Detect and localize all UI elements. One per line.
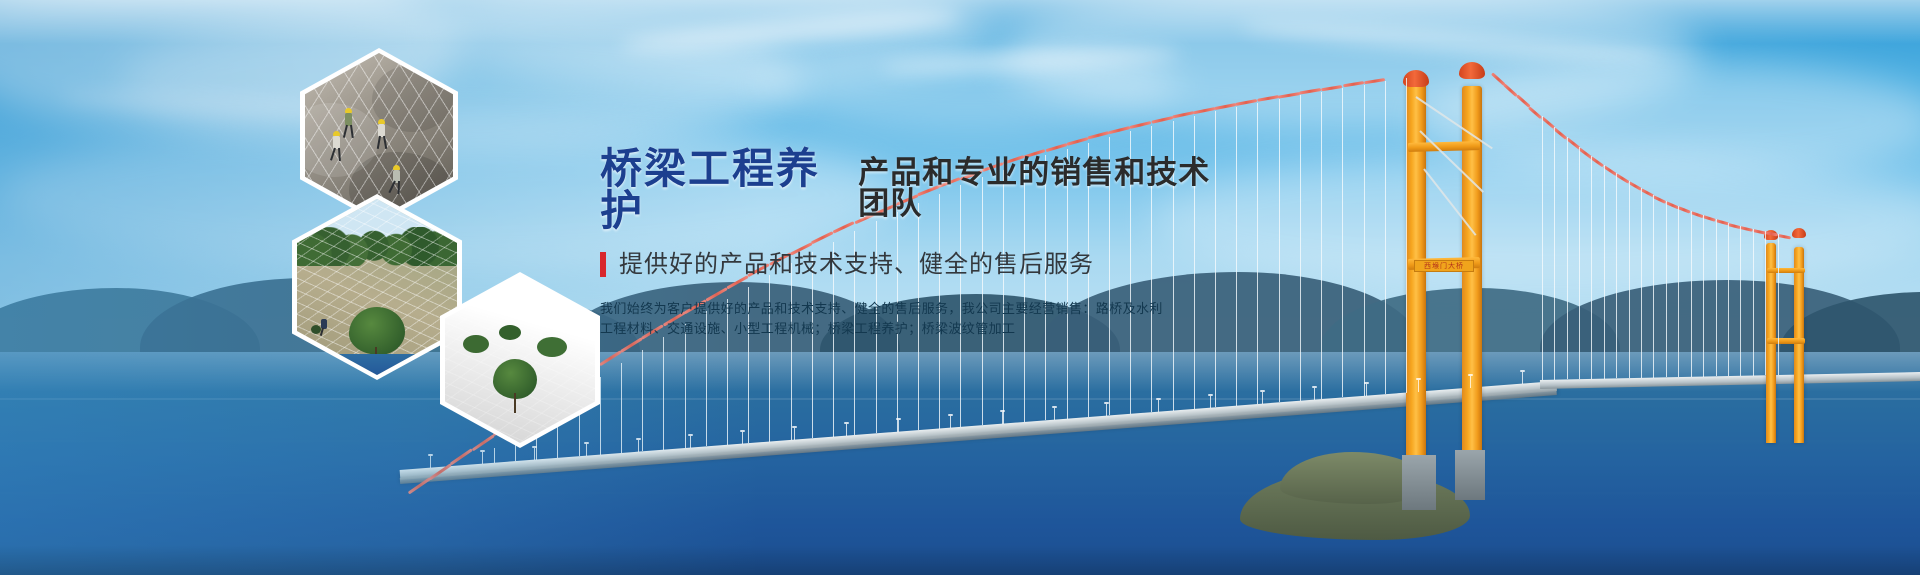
bridge-hanger <box>1716 219 1717 376</box>
main-cable-segment <box>1257 95 1279 102</box>
headline-secondary: 产品和专业的销售和技术团队 <box>858 157 1240 219</box>
main-cable-segment <box>1300 88 1322 94</box>
bridge-lamp <box>690 436 691 448</box>
tower-cap-right <box>1792 228 1806 238</box>
tower-cross-beam <box>1767 338 1805 344</box>
back-stay-cable-segment <box>1553 127 1567 139</box>
description-line-1: 我们始终为客户提供好的产品和技术支持、健全的售后服务，我公司主要经营销售：路桥及… <box>600 299 1140 319</box>
hero-text-block: 桥梁工程养护 产品和专业的销售和技术团队 提供好的产品和技术支持、健全的售后服务… <box>600 148 1240 339</box>
bridge-hanger <box>1257 103 1258 404</box>
bridge-hanger <box>1678 206 1679 377</box>
photo-green-slope <box>297 199 457 375</box>
bridge-lamp <box>1418 380 1419 392</box>
bridge-pier <box>1402 455 1436 510</box>
bridge-lamp <box>1366 384 1367 396</box>
back-stay-cable-segment <box>1566 137 1580 149</box>
bridge-lamp <box>1210 396 1211 408</box>
back-stay-cable-segment <box>1653 195 1667 204</box>
tower-cross-beam <box>1408 141 1480 152</box>
hex-photo-2[interactable] <box>292 194 462 380</box>
bridge-lamp <box>950 416 951 428</box>
bridge-hanger <box>685 324 686 448</box>
bridge-lamp <box>1314 388 1315 400</box>
bridge-hanger <box>1279 99 1280 402</box>
bridge-hanger <box>621 363 622 453</box>
water-strip <box>297 354 457 375</box>
bridge-hanger <box>494 448 495 463</box>
main-cable-segment <box>1363 78 1385 84</box>
bridge-hanger <box>1616 173 1617 378</box>
tower-cross-beam <box>1767 268 1805 273</box>
main-cable-segment <box>450 448 473 465</box>
back-stay-cable-segment <box>1590 156 1604 167</box>
accent-bar <box>600 252 606 277</box>
main-cable-segment <box>1321 85 1343 91</box>
back-stay-cable-segment <box>1528 106 1542 119</box>
bridge-deck-right <box>1540 372 1920 389</box>
tree <box>493 359 537 415</box>
headline-row: 桥梁工程养护 产品和专业的销售和技术团队 <box>600 148 1240 232</box>
bridge-hanger <box>1554 127 1555 380</box>
main-cable-segment <box>1087 131 1109 139</box>
bridge-lamp <box>1106 404 1107 416</box>
bridge-hanger <box>1300 95 1301 400</box>
main-cable-segment <box>1066 137 1088 146</box>
bridge-lamp <box>534 448 535 460</box>
bridge-tower-far <box>1760 228 1820 443</box>
bridge-lamp <box>1262 392 1263 404</box>
bridge-hanger <box>1406 78 1407 393</box>
bridge-hanger <box>1666 201 1667 378</box>
tower-leg-left <box>1406 76 1426 490</box>
main-cable-segment <box>1215 103 1237 110</box>
bridge-hanger <box>642 350 643 451</box>
back-stay-cable-segment <box>1703 215 1716 222</box>
back-stay-cable-segment <box>1728 223 1741 229</box>
bridge-lamp <box>898 420 899 432</box>
hex-photo-3[interactable] <box>440 272 600 448</box>
bridge-hanger <box>1542 116 1543 380</box>
back-stay-cable-segment <box>1615 173 1629 183</box>
back-stay-cable-segment <box>1690 211 1703 218</box>
main-cable-segment <box>1236 99 1258 106</box>
subheadline-row: 提供好的产品和技术支持、健全的售后服务 <box>600 252 1240 277</box>
back-stay-cable-segment <box>1516 95 1530 108</box>
tower-plaque-text: 西堠门大桥 <box>1424 261 1464 271</box>
main-cable-segment <box>1151 116 1173 124</box>
bridge-hanger <box>1778 234 1779 375</box>
tower-leg-right <box>1794 247 1804 443</box>
bridge-lamp <box>1470 376 1471 388</box>
tower-plaque: 西堠门大桥 <box>1414 260 1474 272</box>
bridge-hanger <box>1321 92 1322 399</box>
tower-cap-right <box>1459 62 1485 79</box>
photo-ochre-slope <box>445 277 595 443</box>
bridge-hanger <box>1629 181 1630 378</box>
bridge-pier <box>1455 450 1485 500</box>
bridge-lamp <box>1158 400 1159 412</box>
bridge-lamp <box>638 440 639 452</box>
main-cable-segment <box>1130 121 1152 129</box>
bridge-lamp <box>794 428 795 440</box>
main-cable-segment <box>1278 92 1300 99</box>
bridge-lamp <box>1002 412 1003 424</box>
shrub <box>463 335 489 353</box>
bridge-lamp <box>742 432 743 444</box>
bridge-lamp <box>1054 408 1055 420</box>
bridge-hanger <box>1703 215 1704 376</box>
bridge-hanger <box>663 337 664 450</box>
description-paragraph: 我们始终为客户提供好的产品和技术支持、健全的售后服务，我公司主要经营销售：路桥及… <box>600 299 1140 339</box>
bridge-hanger <box>1753 229 1754 376</box>
hero-banner: 西堠门大桥 <box>0 0 1920 575</box>
bridge-hanger <box>1728 223 1729 377</box>
hex-photo-inner <box>297 199 457 375</box>
hex-frame <box>292 194 462 380</box>
bridge-hanger <box>1641 188 1642 378</box>
bridge-hanger <box>1591 156 1592 379</box>
subheadline: 提供好的产品和技术支持、健全的售后服务 <box>619 253 1094 277</box>
bridge-hanger <box>1385 81 1386 394</box>
main-cable-segment <box>1172 111 1194 118</box>
headline-primary: 桥梁工程养护 <box>600 148 842 232</box>
description-line-2: 工程材料、交通设施、小型工程机械；桥梁工程养护；桥梁波纹管加工 <box>600 319 1140 339</box>
back-stay-cable-segment <box>1541 117 1555 130</box>
bridge-hanger <box>1653 195 1654 378</box>
shrub <box>499 325 521 340</box>
back-stay-cable-segment <box>1740 226 1753 232</box>
bridge-hanger <box>1765 231 1766 375</box>
bridge-lamp <box>1522 372 1523 384</box>
bridge-hanger <box>1691 211 1692 377</box>
bridge-lamp <box>846 424 847 436</box>
main-cable-segment <box>1342 81 1364 87</box>
bridge-hanger <box>1567 137 1568 379</box>
bridge-hanger <box>1342 88 1343 397</box>
hex-frame <box>440 272 600 448</box>
bridge-hanger <box>1364 85 1365 396</box>
main-cable-segment <box>1109 126 1131 134</box>
bridge-lamp <box>482 452 483 464</box>
bridge-lamp <box>430 456 431 468</box>
back-stay-cable-segment <box>1715 219 1728 225</box>
bridge-hanger <box>1579 147 1580 379</box>
main-cable-segment <box>1194 107 1216 114</box>
main-cable-segment <box>599 350 622 366</box>
shrub <box>537 337 567 357</box>
hex-photo-inner <box>445 277 595 443</box>
back-stay-cable-segment <box>1678 206 1692 214</box>
bridge-hanger <box>1740 226 1741 376</box>
main-cable-segment <box>620 337 643 353</box>
bridge-hanger <box>1604 165 1605 379</box>
